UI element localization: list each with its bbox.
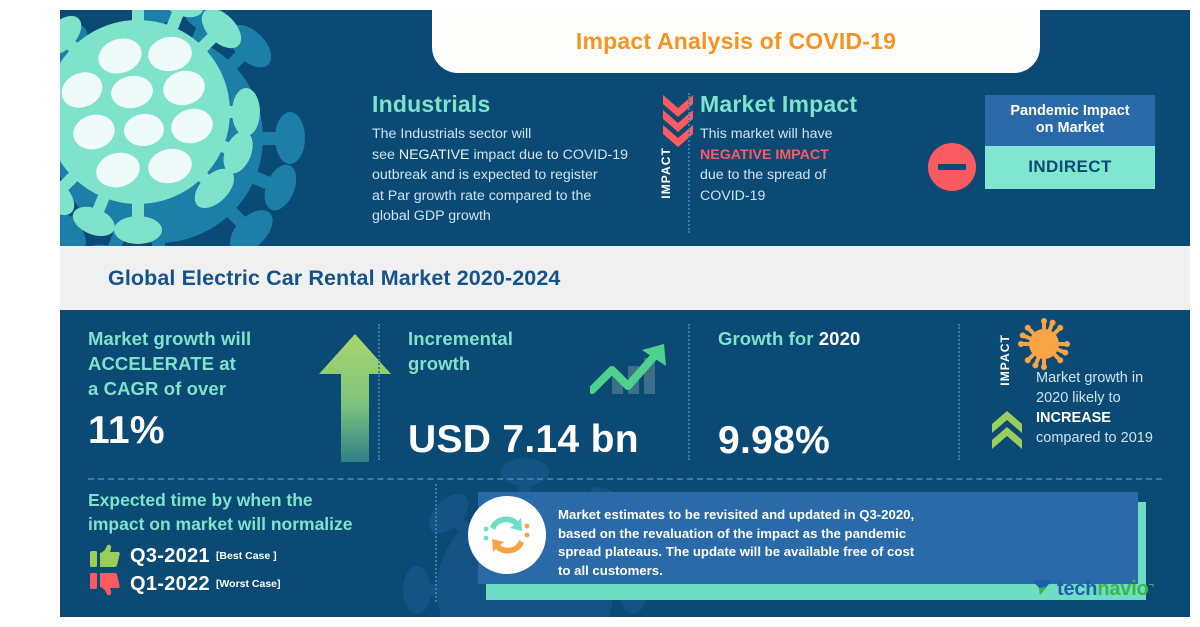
incremental-value: USD 7.14 bn xyxy=(408,418,648,462)
impact-right-line-2: 2020 likely to xyxy=(1036,388,1186,408)
stat-growth-2020: Growth for 2020 9.98% xyxy=(718,326,968,463)
worst-case-row: Q1-2022 [Worst Case] xyxy=(88,572,418,596)
market-impact-body: This market will have NEGATIVE IMPACT du… xyxy=(700,124,950,206)
note-line-2: based on the revaluation of the impact a… xyxy=(558,525,1122,544)
divider-stats-2 xyxy=(688,324,690,460)
infographic-frame: Impact Analysis of COVID-19 Industrials … xyxy=(60,10,1190,617)
divider-top-1 xyxy=(688,93,690,233)
header-title-pill: Impact Analysis of COVID-19 xyxy=(432,10,1040,73)
virus-icon xyxy=(1018,318,1070,375)
double-chevron-up-icon xyxy=(992,408,1022,455)
market-title: Global Electric Car Rental Market 2020-2… xyxy=(108,266,560,291)
growth-chart-icon xyxy=(590,342,672,403)
best-case-row: Q3-2021 [Best Case ] xyxy=(88,544,418,568)
growth-2020-label: Growth for 2020 xyxy=(718,326,968,351)
worst-case-quarter: Q1-2022 xyxy=(130,573,210,596)
impact-indicator-right: IMPACT Market growth in 2020 likely to I… xyxy=(980,320,1190,470)
technavio-arrow-icon xyxy=(1032,578,1052,601)
divider-stats-1 xyxy=(378,324,380,460)
expected-heading-line2: impact on market will normalize xyxy=(88,512,418,536)
note-card-body: Market estimates to be revisited and upd… xyxy=(478,492,1138,584)
minus-bar xyxy=(938,164,966,170)
pandemic-impact-value: INDIRECT xyxy=(985,146,1155,189)
technavio-word-part2: navio xyxy=(1097,578,1148,600)
best-case-quarter: Q3-2021 xyxy=(130,545,210,568)
growth-2020-label-year: 2020 xyxy=(819,328,861,349)
infographic-canvas: Impact Analysis of COVID-19 Industrials … xyxy=(0,0,1200,627)
stat-cagr: Market growth will ACCELERATE at a CAGR … xyxy=(88,326,318,453)
arrow-up-icon xyxy=(318,332,392,467)
pandemic-impact-header: Pandemic Impact on Market xyxy=(985,95,1155,146)
worst-case-label: [Worst Case] xyxy=(216,578,281,590)
market-title-band: Global Electric Car Rental Market 2020-2… xyxy=(60,246,1190,310)
impact-label-right: IMPACT xyxy=(998,334,1012,386)
expected-heading: Expected time by when the impact on mark… xyxy=(88,488,418,536)
best-case-label: [Best Case ] xyxy=(216,550,277,562)
thumbs-down-icon xyxy=(88,572,122,596)
industrials-line-1: The Industrials sector will xyxy=(372,124,660,145)
impact-right-line-1: Market growth in xyxy=(1036,368,1186,388)
growth-2020-value: 9.98% xyxy=(718,419,968,463)
pandemic-impact-header-line1: Pandemic Impact xyxy=(991,103,1149,120)
industrials-block: Industrials The Industrials sector will … xyxy=(372,91,660,227)
cagr-label-line2: ACCELERATE at xyxy=(88,351,318,376)
market-impact-line-1: This market will have xyxy=(700,124,950,145)
market-impact-line-3: due to the spread of xyxy=(700,165,950,186)
divider-bottom-1 xyxy=(435,484,437,602)
growth-2020-label-mint: Growth for xyxy=(718,328,814,349)
note-line-3: spread plateaus. The update will be avai… xyxy=(558,543,1122,562)
industrials-body: The Industrials sector will see NEGATIVE… xyxy=(372,124,660,227)
market-impact-heading: Market Impact xyxy=(700,91,950,118)
top-impact-row: Industrials The Industrials sector will … xyxy=(60,73,1190,246)
industrials-line-2-pre: see xyxy=(372,147,399,163)
cagr-label: Market growth will ACCELERATE at a CAGR … xyxy=(88,326,318,401)
impact-right-increase: INCREASE xyxy=(1036,408,1186,428)
divider-stats-3 xyxy=(958,324,960,460)
pandemic-impact-box: Pandemic Impact on Market INDIRECT xyxy=(985,95,1155,189)
market-impact-line-4: COVID-19 xyxy=(700,186,950,207)
industrials-line-2-post: impact due to COVID-19 xyxy=(470,147,629,163)
impact-label-top: IMPACT xyxy=(659,147,673,199)
technavio-wordmark: technavio¬ xyxy=(1057,578,1154,601)
industrials-line-4: at Par growth rate compared to the xyxy=(372,186,660,207)
stats-row: Market growth will ACCELERATE at a CAGR … xyxy=(60,310,1190,475)
technavio-logo: technavio¬ xyxy=(1032,578,1154,601)
impact-right-line-4: compared to 2019 xyxy=(1036,428,1186,448)
expected-normalization-block: Expected time by when the impact on mark… xyxy=(88,488,418,596)
page-title: Impact Analysis of COVID-19 xyxy=(576,28,896,55)
cagr-value: 11% xyxy=(88,409,318,453)
impact-indicator-top: IMPACT xyxy=(655,95,701,245)
market-impact-block: Market Impact This market will have NEGA… xyxy=(700,91,950,206)
expected-heading-line1: Expected time by when the xyxy=(88,488,418,512)
industrials-heading: Industrials xyxy=(372,91,660,118)
cagr-label-line3: a CAGR of over xyxy=(88,376,318,401)
impact-right-text: Market growth in 2020 likely to INCREASE… xyxy=(1036,368,1186,448)
industrials-line-5: global GDP growth xyxy=(372,206,660,227)
cagr-label-line1: Market growth will xyxy=(88,326,318,351)
industrials-negative-word: NEGATIVE xyxy=(399,147,470,163)
thumbs-up-icon xyxy=(88,544,122,568)
industrials-line-3: outbreak and is expected to register xyxy=(372,165,660,186)
technavio-word-part1: tech xyxy=(1057,578,1097,600)
pandemic-impact-header-line2: on Market xyxy=(991,120,1149,137)
bottom-row: Expected time by when the impact on mark… xyxy=(60,480,1190,617)
refresh-cycle-icon xyxy=(468,496,546,574)
industrials-line-2: see NEGATIVE impact due to COVID-19 xyxy=(372,145,660,166)
technavio-trademark: ¬ xyxy=(1149,579,1154,589)
minus-circle-icon xyxy=(928,143,976,191)
note-line-1: Market estimates to be revisited and upd… xyxy=(558,506,1122,525)
market-impact-negative: NEGATIVE IMPACT xyxy=(700,145,950,166)
